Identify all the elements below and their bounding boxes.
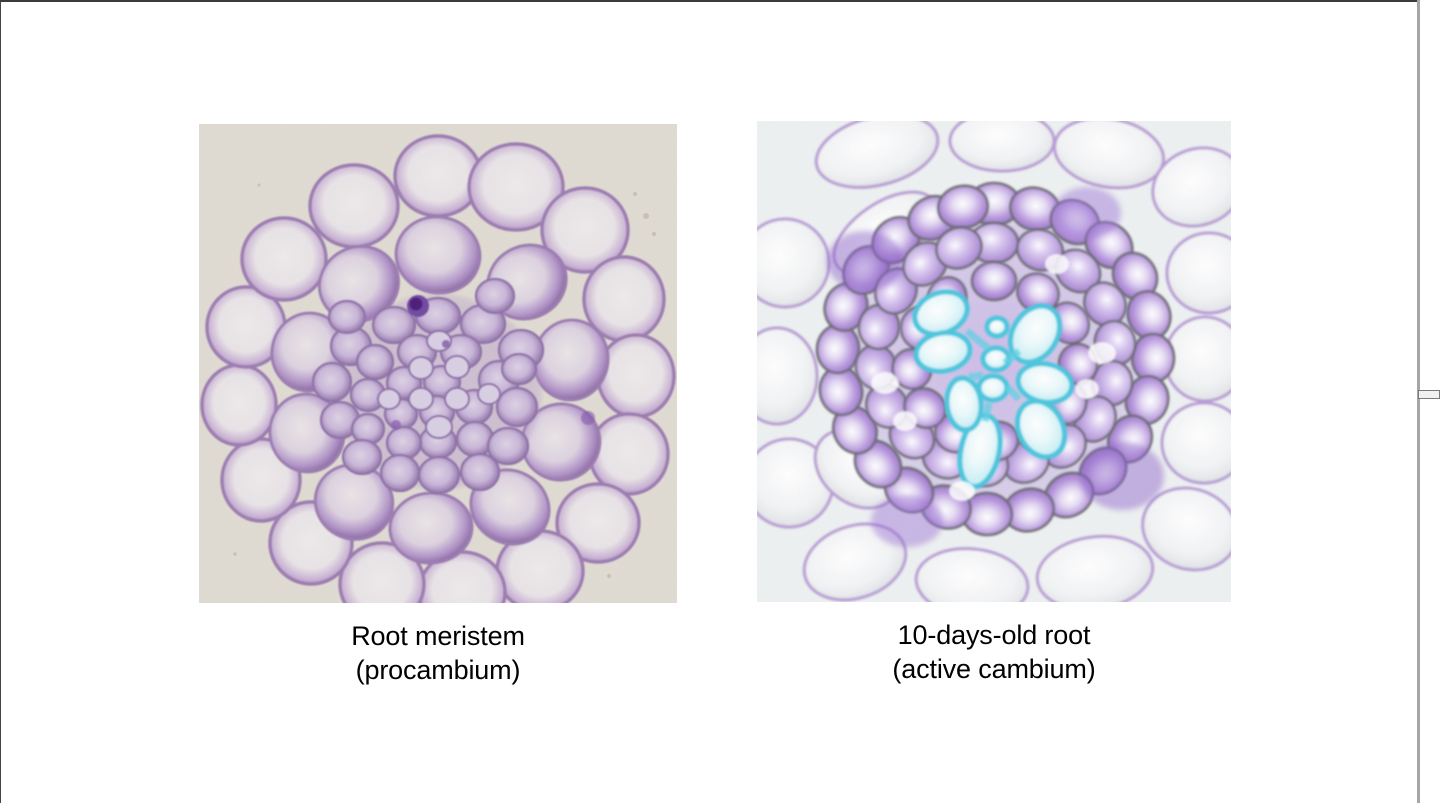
pane-divider-handle[interactable] [1418, 390, 1440, 399]
ten-days-old-root-image [757, 121, 1231, 602]
caption-root-meristem: Root meristem (procambium) [199, 619, 677, 687]
micrograph-ten-days-old-root [757, 121, 1231, 602]
root-meristem-image [199, 124, 677, 603]
caption-ten-days-old-root: 10-days-old root (active cambium) [757, 618, 1231, 686]
figure-root-meristem: Root meristem (procambium) [199, 124, 677, 687]
slide-canvas: Root meristem (procambium) [0, 0, 1419, 803]
micrograph-root-meristem [199, 124, 677, 603]
figure-ten-days-old-root: 10-days-old root (active cambium) [757, 121, 1231, 686]
pane-divider[interactable] [1417, 0, 1420, 803]
